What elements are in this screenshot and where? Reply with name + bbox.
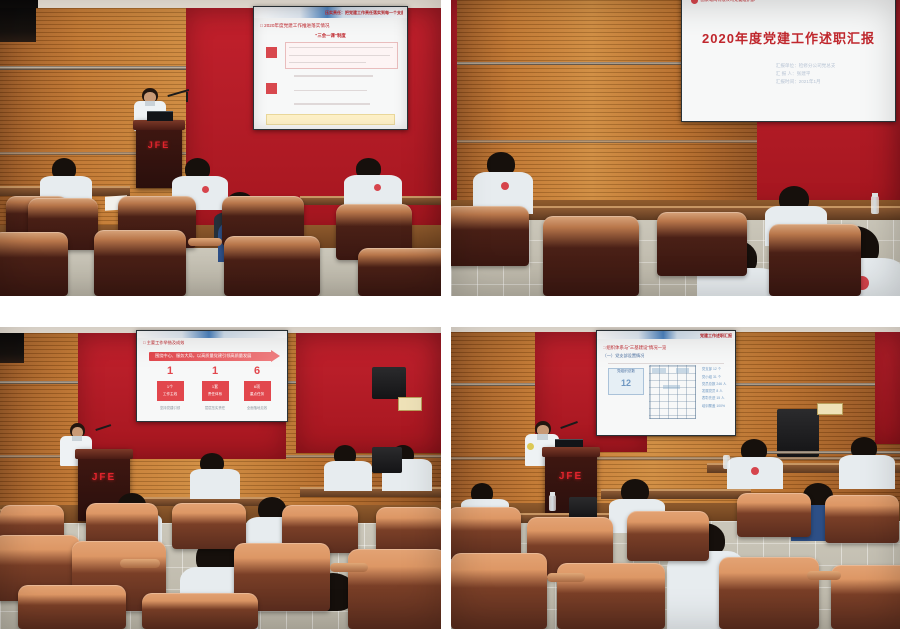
kpi-caption-1: 坚持党建引领 xyxy=(154,405,187,410)
kpi-box-label-2: 1套 xyxy=(203,384,227,390)
slide-subtitle: "三会一课"制度 xyxy=(262,33,400,39)
water-bottle xyxy=(549,495,556,511)
slide-right-item-1: 党支部 12 个 xyxy=(702,366,721,371)
podium-logo-text: JFE xyxy=(545,471,597,482)
slide-left-caption: 党组织总数 xyxy=(609,369,642,374)
kpi-box-label-1: 1个 xyxy=(158,384,182,390)
photo-top-left: 压实责任：把党建工作责任落实到每一个支部、每一名党员 □ 2020年度党建工作推… xyxy=(0,0,441,296)
slide-header: □ 主要工作举措及成效 xyxy=(143,340,184,346)
slide-corner-label: 党建工作述职汇报 xyxy=(670,333,732,339)
kpi-number-2: 1 xyxy=(200,365,230,377)
water-bottle xyxy=(871,196,879,214)
slide-meta-3: 汇报时间：2021年1月 xyxy=(776,79,821,85)
kpi-number-1: 1 xyxy=(155,365,185,377)
wall-sign xyxy=(398,397,422,411)
kpi-box-sub-3: 重点任务 xyxy=(245,392,269,397)
audience-body xyxy=(324,461,372,491)
kpi-box-sub-1: 工作主线 xyxy=(158,392,182,397)
slide-subheader: （一）党支部设置情况 xyxy=(603,353,645,359)
photo-bottom-right: 党建工作述职汇报 □ 组织体系与“三基建设”情况一览 （一）党支部设置情况 党组… xyxy=(451,327,900,629)
kpi-caption-3: 全面落地见效 xyxy=(241,405,274,410)
photo-top-right: 国家电网有限公司党委组织部 2020年度党建工作述职汇报 汇报单位：检修分公司党… xyxy=(451,0,900,296)
slide-banner-text: 围绕中心、服务大局，以高质量党建引领高质量发展 xyxy=(155,353,251,359)
slide-meta-1: 汇报单位：检修分公司党总支 xyxy=(776,63,836,69)
slide-header: □ 2020年度党建工作推进落实情况 xyxy=(260,23,329,29)
laptop xyxy=(147,111,173,121)
photo-bottom-left: □ 主要工作举措及成效 围绕中心、服务大局，以高质量党建引领高质量发展 1 1 … xyxy=(0,327,441,629)
kpi-box-sub-2: 责任体系 xyxy=(203,392,227,397)
slide-right-item-4: 发展党员 8 人 xyxy=(702,388,723,393)
projection-screen: 国家电网有限公司党委组织部 2020年度党建工作述职汇报 汇报单位：检修分公司党… xyxy=(681,0,896,122)
wall-sign xyxy=(817,403,843,415)
slide-logo-text: 国家电网有限公司党委组织部 xyxy=(701,0,755,3)
uniform-logo-icon xyxy=(527,443,534,450)
kpi-number-3: 6 xyxy=(242,365,272,377)
projection-screen: □ 主要工作举措及成效 围绕中心、服务大局，以高质量党建引领高质量发展 1 1 … xyxy=(136,330,288,422)
projection-screen: 党建工作述职汇报 □ 组织体系与“三基建设”情况一览 （一）党支部设置情况 党组… xyxy=(596,330,736,436)
slide-header: □ 组织体系与“三基建设”情况一览 xyxy=(603,345,667,351)
slide-meta-2: 汇 报 人：张建平 xyxy=(776,71,811,77)
loudspeaker xyxy=(777,409,819,457)
monitor xyxy=(569,497,597,519)
org-logo-icon xyxy=(691,0,698,4)
slide-right-item-6: 培训覆盖 100% xyxy=(702,403,725,408)
podium-logo-text: JFE xyxy=(136,140,182,150)
slide-corner-label: 压实责任：把党建工作责任落实到每一个支部、每一名党员 xyxy=(325,10,403,16)
slide-right-item-5: 表彰先进 15 人 xyxy=(702,395,725,400)
photo-collage: 压实责任：把党建工作责任落实到每一个支部、每一名党员 □ 2020年度党建工作推… xyxy=(0,0,900,629)
projection-screen: 压实责任：把党建工作责任落实到每一个支部、每一名党员 □ 2020年度党建工作推… xyxy=(253,6,408,130)
slide-right-item-2: 党小组 31 个 xyxy=(702,374,721,379)
slide-title: 2020年度党建工作述职汇报 xyxy=(693,28,885,47)
podium-logo-text: JFE xyxy=(78,472,130,483)
slide-left-value: 12 xyxy=(609,378,642,388)
kpi-caption-2: 层层压实责任 xyxy=(199,405,232,410)
slide-right-item-3: 党员总数 246 人 xyxy=(702,381,727,386)
kpi-box-label-3: 6项 xyxy=(245,384,269,390)
